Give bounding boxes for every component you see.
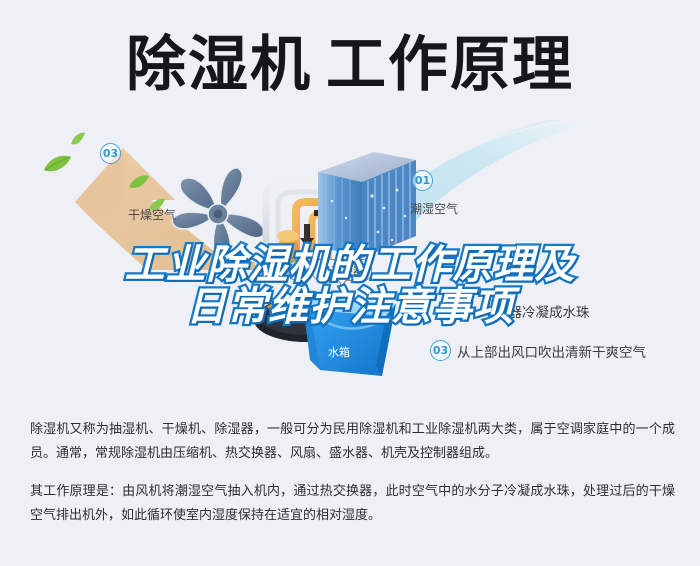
body-copy: 除湿机又称为抽湿机、干燥机、除湿器，一般可分为民用除湿机和工业除湿机两大类，属于… bbox=[30, 418, 675, 528]
label-humid-air: 01 潮湿空气 bbox=[410, 170, 458, 217]
heat-exchanger-graphic bbox=[312, 146, 422, 276]
page-root: 除湿机工作原理 bbox=[0, 0, 700, 566]
badge-03: 03 bbox=[100, 143, 121, 164]
label-dry-air: 03 bbox=[100, 143, 121, 164]
label-dry-air-text: 干燥空气 bbox=[128, 206, 176, 223]
water-tank-label: 水箱 bbox=[328, 344, 350, 360]
callout-heat-exchanger: 02 热交换器 bbox=[287, 259, 372, 281]
water-tank-graphic bbox=[236, 286, 446, 396]
step-line-02: 02 发器冷凝成水珠 bbox=[468, 300, 590, 321]
body-paragraph-1: 除湿机又称为抽湿机、干燥机、除湿器，一般可分为民用除湿机和工业除湿机两大类，属于… bbox=[30, 418, 675, 466]
leaf-icon bbox=[42, 154, 72, 174]
illustration-stage: 水箱 02 热交换器 01 潮湿空气 03 干燥空气 02 发器冷凝成水珠 03… bbox=[0, 118, 700, 390]
page-title: 除湿机工作原理 bbox=[126, 35, 574, 95]
badge-01: 01 bbox=[412, 170, 433, 191]
leaf-icon bbox=[70, 132, 86, 146]
callout-bubble-label: 热交换器 bbox=[312, 259, 372, 281]
step-line-03-text: 从上部出风口吹出清新干爽空气 bbox=[457, 341, 646, 361]
leaf-icon bbox=[128, 174, 150, 190]
page-title-part2: 工作原理 bbox=[326, 30, 574, 100]
badge-02: 02 bbox=[287, 260, 308, 281]
label-humid-air-text: 潮湿空气 bbox=[410, 200, 458, 217]
step-line-03: 03 从上部出风口吹出清新干爽空气 bbox=[430, 340, 646, 361]
body-paragraph-2: 其工作原理是：由风机将潮湿空气抽入机内，通过热交换器，此时空气中的水分子冷凝成水… bbox=[30, 480, 675, 528]
badge-step-03: 03 bbox=[430, 340, 451, 361]
step-line-02-text: 发器冷凝成水珠 bbox=[495, 301, 590, 321]
page-title-part1: 除湿机 bbox=[126, 30, 312, 100]
page-header: 除湿机工作原理 bbox=[0, 22, 700, 108]
